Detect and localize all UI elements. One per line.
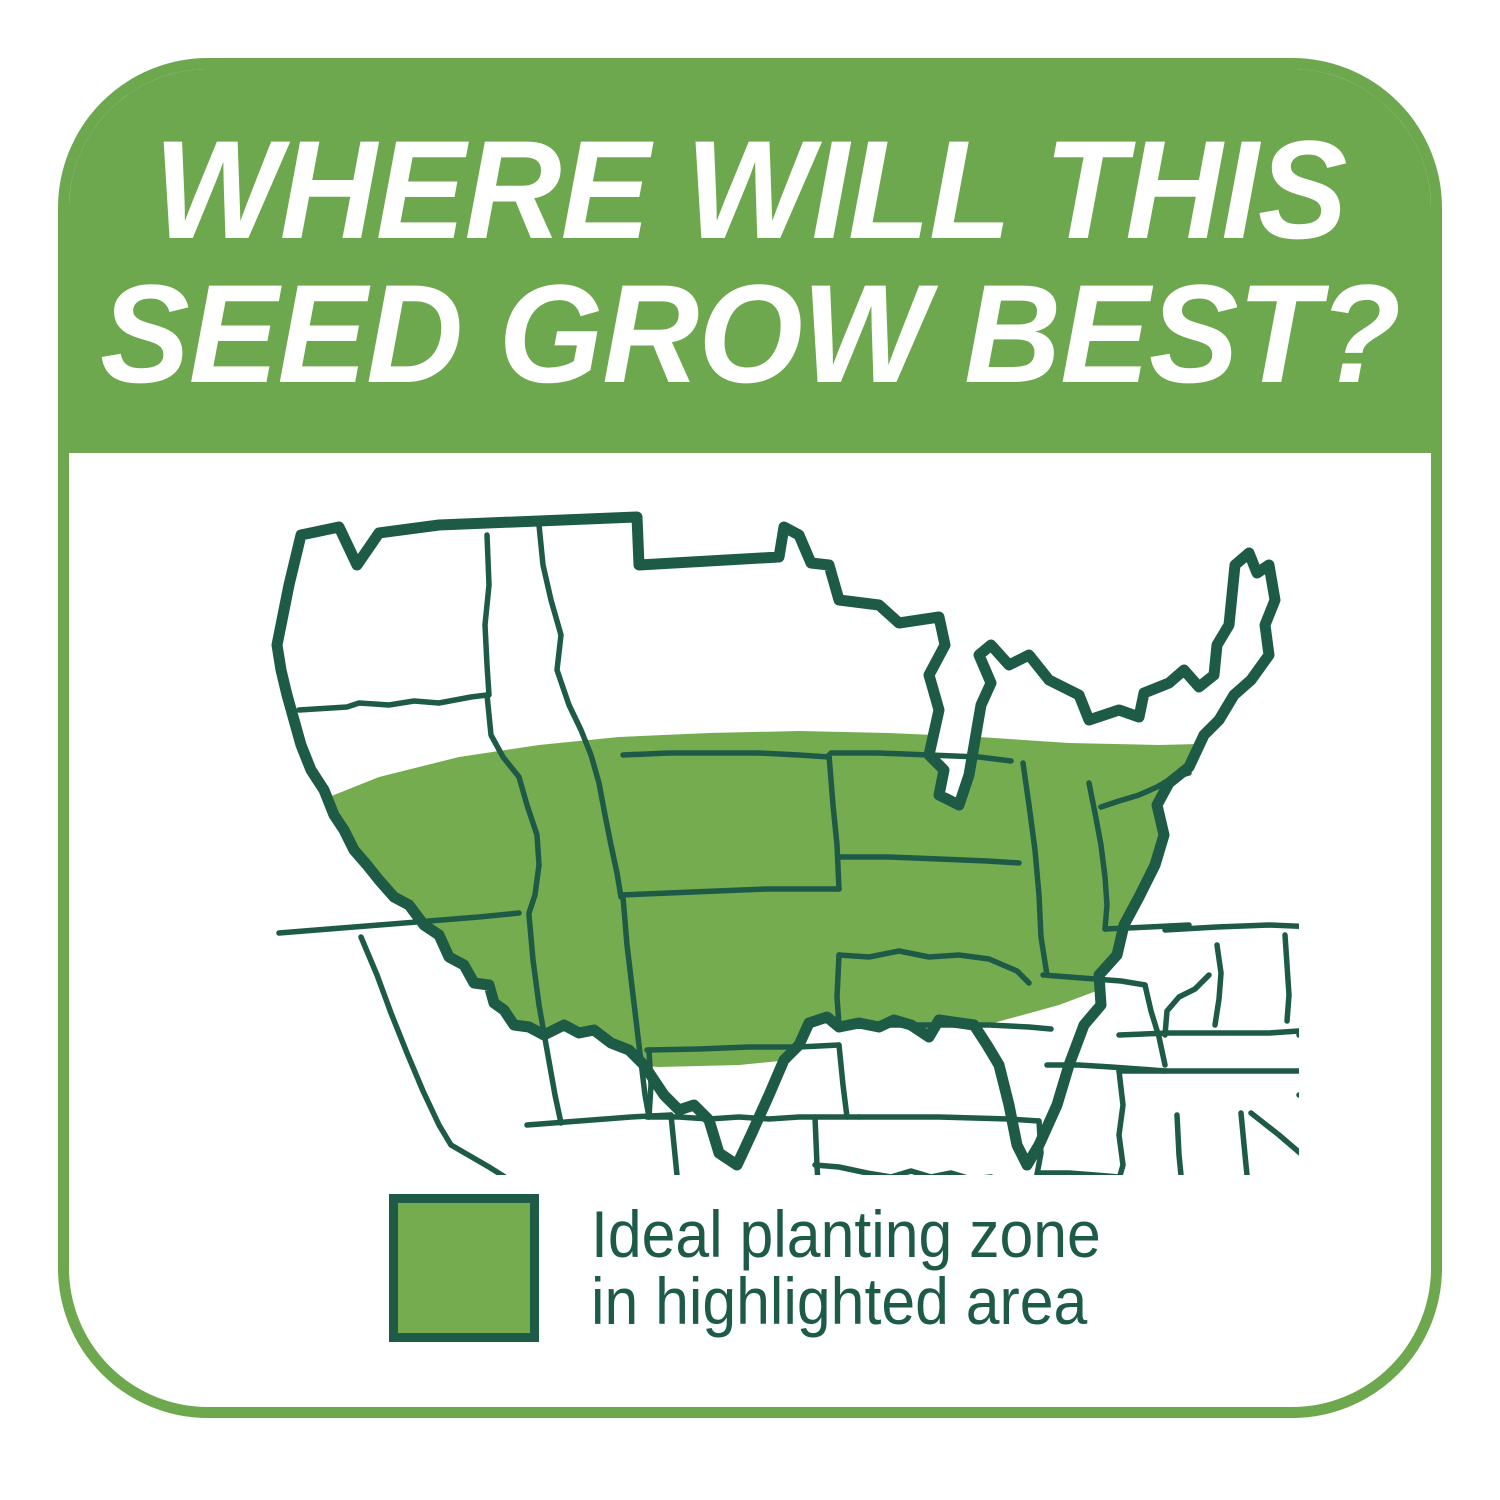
page-title-line-2: SEED GROW BEST? [100, 267, 1400, 401]
legend-color-swatch [389, 1194, 539, 1342]
map-legend: Ideal planting zone in highlighted area [389, 1194, 1145, 1342]
header-banner: WHERE WILL THIS SEED GROW BEST? [58, 58, 1442, 453]
infographic-card: WHERE WILL THIS SEED GROW BEST? [58, 58, 1442, 1418]
legend-label-line-2: in highlighted area [591, 1268, 1101, 1335]
legend-label-line-1: Ideal planting zone [591, 1201, 1101, 1268]
map-container [239, 505, 1299, 1175]
united-states-map [239, 505, 1299, 1175]
page-title-line-1: WHERE WILL THIS [154, 123, 1347, 257]
legend-label: Ideal planting zone in highlighted area [591, 1201, 1101, 1336]
